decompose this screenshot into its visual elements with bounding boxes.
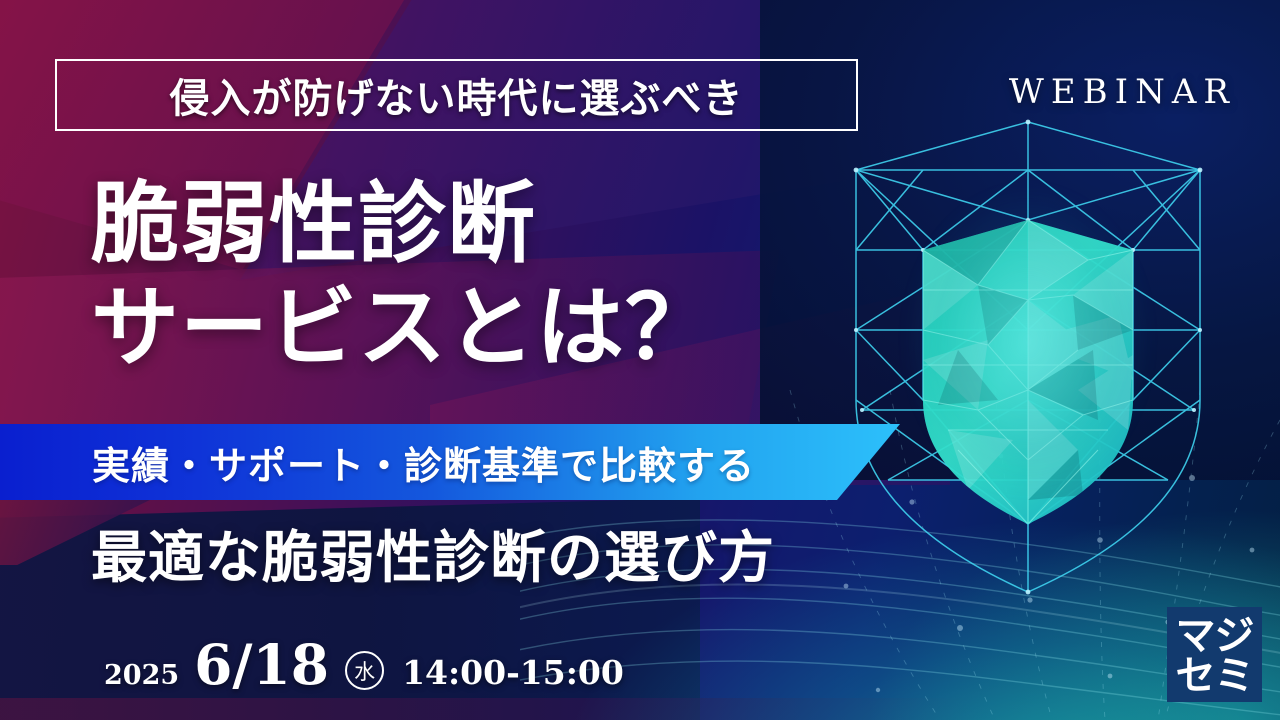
schedule-time: 14:00-15:00 (402, 653, 624, 692)
eyebrow-text: 侵入が防げない時代に選ぶべき (170, 66, 744, 124)
schedule-year: 2025 (104, 660, 179, 691)
page-title: 脆弱性診断 サービスとは？ (91, 172, 714, 380)
brand-logo-line-2: セミ (1176, 656, 1254, 696)
subheadline: 最適な脆弱性診断の選び方 (91, 513, 775, 594)
schedule: 2025 6/18 水 14:00-15:00 (104, 632, 624, 697)
highlight-band-text: 実績・サポート・診断基準で比較する (92, 435, 755, 490)
shield-glow (868, 160, 1188, 560)
webinar-label: WEBINAR (1009, 72, 1236, 112)
webinar-banner: 侵入が防げない時代に選ぶべき WEBINAR 脆弱性診断 サービスとは？ 実績・… (0, 0, 1280, 720)
highlight-band: 実績・サポート・診断基準で比較する (0, 424, 900, 500)
eyebrow-box: 侵入が防げない時代に選ぶべき (55, 59, 858, 131)
schedule-date: 6/18 (194, 632, 329, 697)
brand-logo-line-1: マジ (1176, 616, 1254, 656)
brand-logo: マジ セミ (1167, 607, 1262, 702)
shield-graphic (828, 100, 1228, 610)
headline-line-1: 脆弱性診断 (91, 172, 536, 275)
schedule-day-of-week: 水 (345, 651, 384, 690)
headline-line-2: サービスとは？ (91, 276, 714, 380)
